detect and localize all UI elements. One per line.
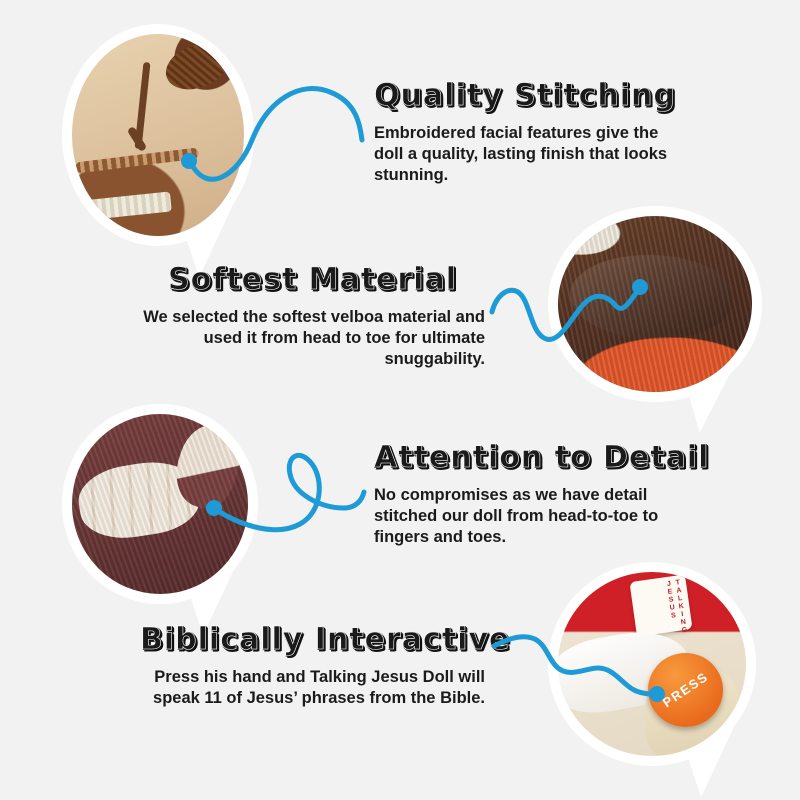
section-body: Press his hand and Talking Jesus Doll wi…: [140, 667, 485, 709]
stitch-band-secondary: [82, 191, 173, 220]
section-headline: Quality Stitching: [374, 78, 674, 113]
product-photo-press-button: TALKING JESUS PRESS: [558, 572, 746, 756]
section-body: No compromises as we have detail stitche…: [374, 485, 684, 548]
press-button: PRESS: [648, 653, 723, 727]
infographic-canvas: Quality Stitching Embroidered facial fea…: [0, 0, 800, 800]
section-body: We selected the softest velboa material …: [140, 307, 485, 370]
photo-bubble-softest-material: [548, 206, 762, 402]
photo-bubble-attention-to-detail: [62, 404, 258, 604]
eyebrow-detail: [159, 36, 232, 98]
photo-bubble-biblically-interactive: TALKING JESUS PRESS: [548, 562, 756, 766]
product-photo-stitching: [72, 34, 244, 236]
section-headline: Biblically Interactive: [140, 622, 485, 657]
photo-bubble-quality-stitching: [62, 24, 254, 246]
section-text-quality-stitching: Quality Stitching Embroidered facial fea…: [374, 78, 674, 186]
product-photo-fur: [558, 216, 752, 392]
section-text-attention-to-detail: Attention to Detail No compromises as we…: [374, 440, 684, 548]
section-body: Embroidered facial features give the dol…: [374, 123, 674, 186]
section-text-biblically-interactive: Biblically Interactive Press his hand an…: [140, 622, 485, 709]
stitch-band: [75, 148, 199, 174]
section-text-softest-material: Softest Material We selected the softest…: [140, 262, 485, 370]
thumb-detail: [166, 418, 248, 515]
section-headline: Attention to Detail: [374, 440, 684, 475]
hang-tag-text: TALKING JESUS: [630, 574, 694, 636]
hang-tag: TALKING JESUS: [630, 574, 694, 636]
product-photo-mitten: [72, 414, 248, 594]
section-headline: Softest Material: [140, 262, 485, 297]
